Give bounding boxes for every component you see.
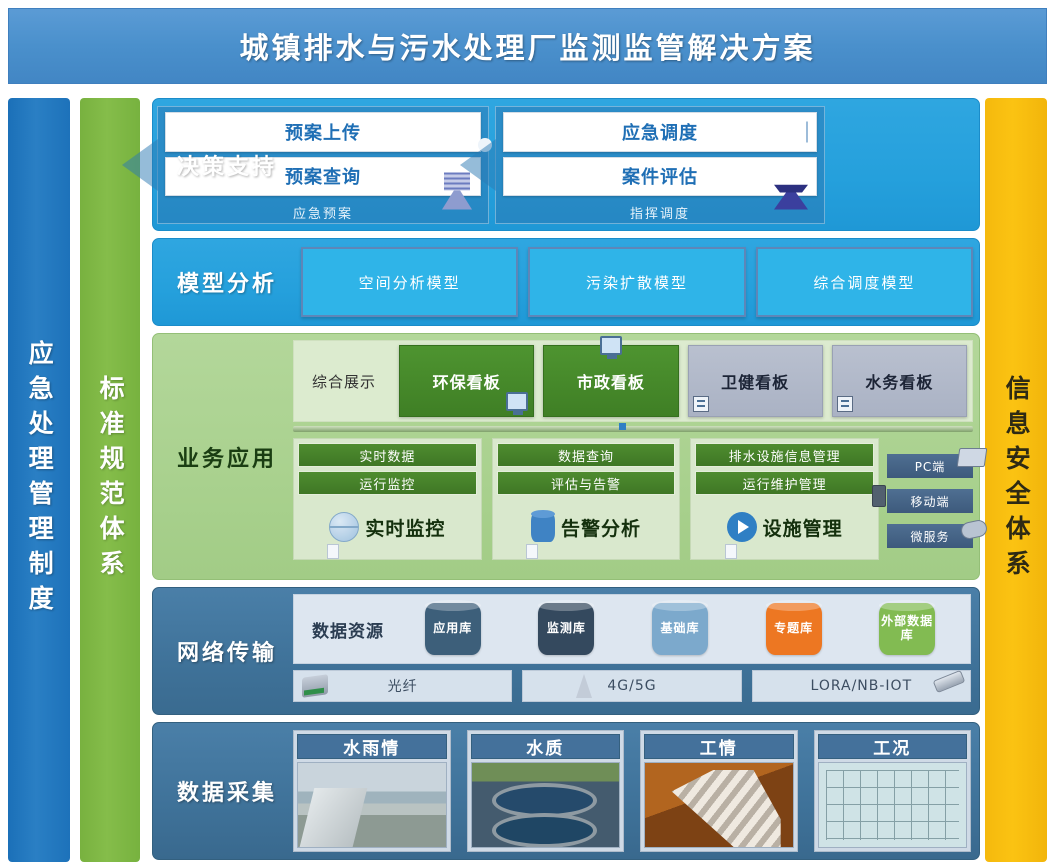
- pillar-information-security-label: 信息安全体系: [1003, 375, 1029, 585]
- decision-item-label: 应急调度: [622, 119, 698, 145]
- business-pill-label: 数据查询: [558, 446, 614, 465]
- business-pill-label: 运行监控: [359, 474, 415, 493]
- document-icon: [327, 544, 339, 559]
- laptop-icon: [957, 448, 988, 467]
- database-thematic[interactable]: 专题库: [766, 603, 822, 655]
- document-icon: [725, 544, 737, 559]
- dashboard-card-label: 卫健看板: [721, 369, 789, 393]
- pipeline-photo: [644, 762, 794, 848]
- document-icon: [526, 544, 538, 559]
- business-pill-label: 排水设施信息管理: [729, 446, 841, 465]
- pillar-standards-system-label: 标准规范体系: [97, 375, 123, 585]
- data-resource-strip: 数据资源 应用库 监测库 基础库 专题库: [293, 594, 971, 664]
- terminal-label: 移动端: [910, 493, 949, 510]
- database-label: 专题库: [774, 622, 813, 636]
- channel-photo: [297, 762, 447, 848]
- model-box-label: 污染扩散模型: [586, 272, 688, 293]
- layer-network-transmission-label: 网络传输: [153, 588, 301, 714]
- dashboard-card-health[interactable]: 卫健看板: [688, 345, 823, 417]
- dashboard-strip-title: 综合展示: [294, 341, 394, 421]
- layer-stack: 决策支持 预案上传 预案查询 应急预案: [152, 98, 980, 862]
- transport-strip: 光纤 4G/5G LORA/NB-IOT: [293, 670, 971, 702]
- data-resource-title: 数据资源: [300, 617, 396, 642]
- solid-pyramid-icon: [774, 167, 808, 186]
- pillar-standards-system: 标准规范体系: [80, 98, 140, 862]
- database-label: 应用库: [433, 622, 472, 636]
- dashboard-card-label: 市政看板: [577, 369, 645, 393]
- layer-data-collection-label: 数据采集: [153, 723, 301, 859]
- data-card-label: 水雨情: [343, 734, 400, 759]
- dashboard-card-municipal[interactable]: 市政看板: [543, 345, 678, 417]
- layer-network-transmission: 网络传输 数据资源 应用库 监测库 基础库: [152, 587, 980, 715]
- play-circle-icon: [727, 512, 757, 542]
- business-feature-label: 设施管理: [763, 514, 843, 541]
- business-pill-data-query[interactable]: 数据查询: [497, 443, 676, 467]
- business-pill-label: 实时数据: [359, 446, 415, 465]
- layer-decision-support-label: 决策支持: [153, 99, 301, 230]
- terminal-list: PC端 移动端 微服务: [887, 438, 973, 560]
- divider: [293, 426, 973, 432]
- terminal-microservice[interactable]: 微服务: [887, 524, 973, 548]
- database-external[interactable]: 外部数据库: [879, 603, 935, 655]
- business-column-monitoring: 实时数据 运行监控 实时监控: [293, 438, 482, 560]
- decision-group-command-dispatch: 应急调度 案件评估 指挥调度: [495, 106, 825, 224]
- terminal-label: PC端: [915, 458, 946, 475]
- data-card-operating-condition[interactable]: 工况: [814, 730, 972, 852]
- antenna-tower-icon: [576, 674, 592, 698]
- business-feature-alarm-analysis[interactable]: 告警分析: [497, 499, 676, 555]
- data-card-rainfall[interactable]: 水雨情: [293, 730, 451, 852]
- treatment-pond-photo: [471, 762, 621, 848]
- data-card-water-quality[interactable]: 水质: [467, 730, 625, 852]
- database-label: 监测库: [547, 622, 586, 636]
- pillar-emergency-management-label: 应急处理管理制度: [26, 340, 52, 620]
- model-box-spatial-analysis[interactable]: 空间分析模型: [301, 247, 518, 317]
- business-pill-drainage-facility-info[interactable]: 排水设施信息管理: [695, 443, 874, 467]
- business-feature-realtime-monitor[interactable]: 实时监控: [298, 499, 477, 555]
- business-pill-operation-maintenance[interactable]: 运行维护管理: [695, 471, 874, 495]
- data-card-engineering[interactable]: 工情: [640, 730, 798, 852]
- layer-model-analysis: 模型分析 空间分析模型 污染扩散模型 综合调度模型: [152, 238, 980, 326]
- scada-schematic-photo: [818, 762, 968, 848]
- transport-4g5g[interactable]: 4G/5G: [522, 670, 741, 702]
- monitor-icon: [506, 392, 528, 411]
- lora-device-icon: [933, 670, 966, 693]
- data-card-label: 水质: [526, 734, 564, 759]
- dashboard-card-label: 水务看板: [865, 369, 933, 393]
- transport-label: 4G/5G: [607, 678, 656, 694]
- business-pill-operation-monitor[interactable]: 运行监控: [298, 471, 477, 495]
- swap-icon: [837, 396, 853, 412]
- arrow-tab-icon: [460, 139, 496, 191]
- dashboard-card-environment[interactable]: 环保看板: [399, 345, 534, 417]
- business-pill-label: 评估与告警: [551, 474, 621, 493]
- swap-icon: [693, 396, 709, 412]
- layer-decision-support: 决策支持 预案上传 预案查询 应急预案: [152, 98, 980, 231]
- data-card-label: 工情: [700, 734, 738, 759]
- dashboard-card-water-affairs[interactable]: 水务看板: [832, 345, 967, 417]
- database-label: 外部数据库: [879, 615, 935, 643]
- database-label: 基础库: [660, 622, 699, 636]
- model-box-integrated-dispatch[interactable]: 综合调度模型: [756, 247, 973, 317]
- database-monitoring[interactable]: 监测库: [538, 603, 594, 655]
- page-title: 城镇排水与污水处理厂监测监管解决方案: [239, 25, 815, 67]
- dashboard-card-label: 环保看板: [433, 369, 501, 393]
- decision-item-emergency-dispatch[interactable]: 应急调度: [503, 112, 817, 152]
- business-feature-label: 实时监控: [365, 514, 445, 541]
- transport-fiber[interactable]: 光纤: [293, 670, 512, 702]
- business-pill-assess-alarm[interactable]: 评估与告警: [497, 471, 676, 495]
- database-basic[interactable]: 基础库: [652, 603, 708, 655]
- model-box-label: 综合调度模型: [813, 272, 915, 293]
- grid-table-icon: [806, 122, 808, 141]
- data-card-label: 工况: [873, 734, 911, 759]
- mobile-phone-icon: [872, 485, 886, 507]
- solution-architecture-diagram: 城镇排水与污水处理厂监测监管解决方案 应急处理管理制度 标准规范体系 信息安全体…: [0, 0, 1055, 868]
- transport-label: 光纤: [388, 676, 418, 696]
- dashboard-strip: 综合展示 环保看板 市政看板 卫健看板: [293, 340, 973, 422]
- business-feature-facility-management[interactable]: 设施管理: [695, 499, 874, 555]
- terminal-pc[interactable]: PC端: [887, 454, 973, 478]
- terminal-mobile[interactable]: 移动端: [887, 489, 973, 513]
- globe-icon: [329, 512, 359, 542]
- business-column-facility: 排水设施信息管理 运行维护管理 设施管理: [690, 438, 879, 560]
- business-column-analysis: 数据查询 评估与告警 告警分析: [492, 438, 681, 560]
- layer-data-collection: 数据采集 水雨情 水质 工情 工况: [152, 722, 980, 860]
- fiber-icon: [302, 674, 328, 698]
- business-feature-label: 告警分析: [561, 514, 641, 541]
- terminal-label: 微服务: [910, 528, 949, 545]
- layer-business-application-label: 业务应用: [153, 334, 301, 579]
- pillar-emergency-management: 应急处理管理制度: [8, 98, 70, 862]
- layer-business-application: 业务应用 综合展示 环保看板 市政看板 卫健看板: [152, 333, 980, 580]
- decision-item-label: 案件评估: [622, 163, 698, 189]
- transport-lora-nbiot[interactable]: LORA/NB-IOT: [752, 670, 971, 702]
- business-pill-realtime-data[interactable]: 实时数据: [298, 443, 477, 467]
- monitor-icon: [600, 336, 622, 355]
- database-cylinder-icon: [531, 512, 555, 542]
- decision-item-case-assessment[interactable]: 案件评估: [503, 157, 817, 197]
- database-application[interactable]: 应用库: [425, 603, 481, 655]
- title-banner: 城镇排水与污水处理厂监测监管解决方案: [8, 8, 1047, 84]
- transport-label: LORA/NB-IOT: [811, 678, 913, 694]
- model-box-label: 空间分析模型: [359, 272, 461, 293]
- layer-model-analysis-label: 模型分析: [153, 239, 301, 325]
- business-pill-label: 运行维护管理: [743, 474, 827, 493]
- pillar-information-security: 信息安全体系: [985, 98, 1047, 862]
- model-box-pollution-diffusion[interactable]: 污染扩散模型: [528, 247, 745, 317]
